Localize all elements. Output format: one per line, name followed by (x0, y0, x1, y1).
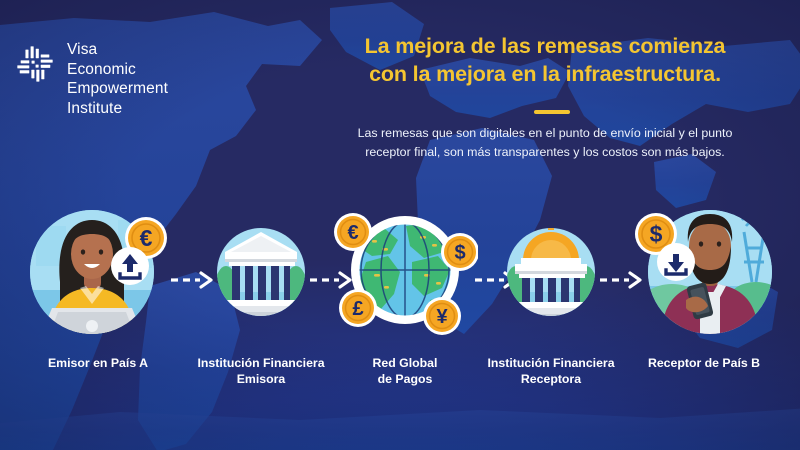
bank-building-domed-illustration (497, 196, 605, 348)
flow-node-label: Receptor de País B (609, 356, 799, 372)
flow-node-receiving-bank[interactable]: Institución Financiera Receptora (497, 196, 605, 353)
svg-text:€: € (140, 225, 153, 251)
man-with-phone-illustration: $ (628, 196, 780, 348)
svg-text:£: £ (352, 298, 363, 320)
svg-text:¥: ¥ (436, 306, 448, 328)
woman-with-laptop-illustration: € (22, 196, 174, 348)
flow-node-global-network[interactable]: € $ £ ¥ (332, 196, 478, 353)
globe-illustration: € $ £ ¥ (332, 196, 478, 348)
remittance-flow-diagram: € Emisor en País A (0, 196, 800, 396)
yen-coin-badge: ¥ (423, 297, 461, 335)
infographic-canvas: Visa Economic Empowerment Institute La m… (0, 0, 800, 450)
svg-text:$: $ (454, 242, 465, 264)
svg-text:$: $ (650, 221, 663, 247)
header: Visa Economic Empowerment Institute La m… (0, 0, 800, 175)
page-title: La mejora de las remesas comienza con la… (300, 33, 790, 89)
page-subtitle: Las remesas que son digitales en el punt… (310, 124, 780, 161)
flow-node-sending-bank[interactable]: Institución Financiera Emisora (207, 196, 315, 353)
pound-coin-badge: £ (339, 289, 377, 327)
bank-building-illustration (207, 196, 315, 348)
title-divider (534, 110, 570, 114)
brand-name: Visa Economic Empowerment Institute (67, 40, 168, 118)
flow-node-sender[interactable]: € Emisor en País A (22, 196, 174, 353)
dollar-coin-badge: $ (441, 233, 478, 271)
flow-node-label: Emisor en País A (3, 356, 193, 372)
visa-pinwheel-logo-icon (14, 43, 56, 85)
download-icon-badge (657, 243, 695, 281)
euro-coin-badge: € (334, 213, 372, 251)
flow-node-receiver[interactable]: $ Receptor de País B (628, 196, 780, 353)
brand-lockup: Visa Economic Empowerment Institute (14, 40, 168, 118)
svg-text:€: € (347, 222, 358, 244)
upload-icon-badge (111, 247, 149, 285)
